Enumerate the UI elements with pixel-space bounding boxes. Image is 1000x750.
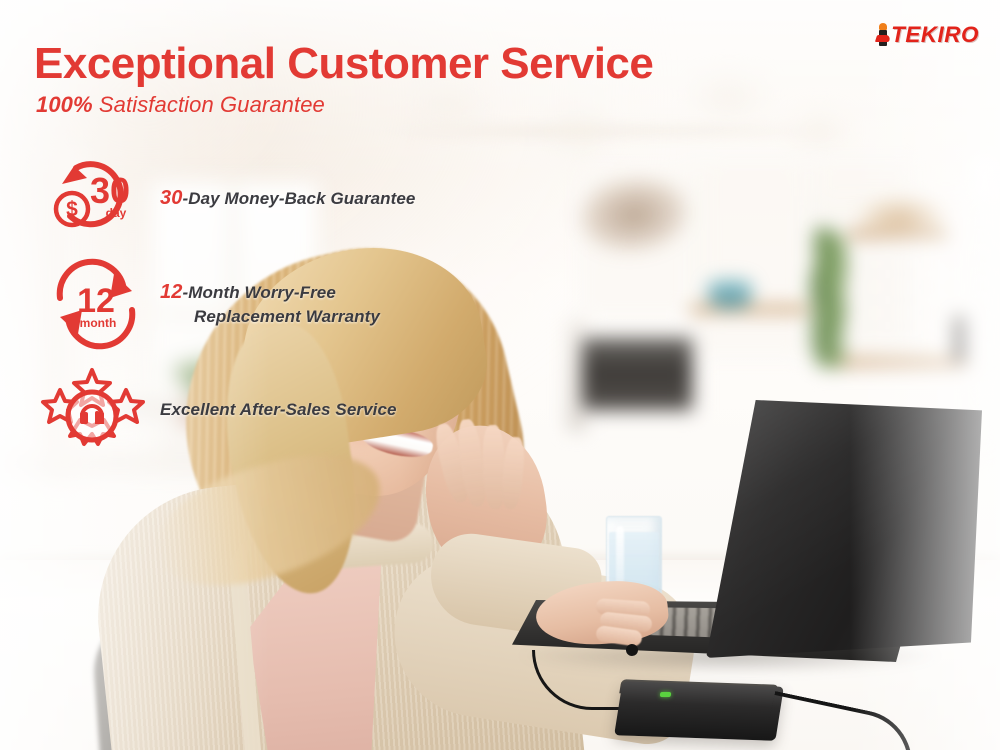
feature-text-line2: Replacement Warranty [160, 306, 380, 329]
feature-text: -Day Money-Back Guarantee [182, 189, 415, 208]
marketing-banner: TEKIRO Exceptional Customer Service 100%… [0, 0, 1000, 750]
content-overlay: TEKIRO Exceptional Customer Service 100%… [0, 0, 1000, 750]
page-subtitle: 100% Satisfaction Guarantee [36, 92, 325, 118]
replacement-warranty-12-month-icon: 12 month [40, 258, 160, 350]
feature-text: -Month Worry-Free [182, 283, 335, 302]
feature-number: 30 [160, 187, 182, 209]
logo-i-icon [875, 23, 891, 47]
feature-label-money-back: 30-Day Money-Back Guarantee [160, 185, 415, 212]
subtitle-rest: Satisfaction Guarantee [93, 92, 325, 117]
icon-unit-month: month [80, 316, 117, 330]
money-back-30-day-icon: $ 30 day [40, 152, 160, 244]
after-sales-service-badge-icon [40, 364, 160, 456]
icon-number-30: 30 [90, 170, 130, 211]
icon-number-12: 12 [77, 282, 115, 320]
brand-logo: TEKIRO [875, 22, 978, 48]
feature-number: 12 [160, 281, 182, 303]
guarantee-feature-list: $ 30 day 30-Day Money-Back Guarantee [40, 150, 510, 470]
logo-wordmark: TEKIRO [891, 22, 979, 48]
feature-item-after-sales: Excellent After-Sales Service [40, 364, 510, 456]
page-title: Exceptional Customer Service [34, 42, 653, 86]
subtitle-percent: 100% [36, 92, 93, 117]
dollar-sign-glyph: $ [66, 198, 78, 221]
icon-unit-day: day [106, 206, 127, 220]
feature-label-warranty: 12-Month Worry-Free Replacement Warranty [160, 279, 380, 329]
feature-label-after-sales: Excellent After-Sales Service [160, 399, 397, 422]
feature-item-money-back: $ 30 day 30-Day Money-Back Guarantee [40, 152, 510, 244]
feature-item-warranty: 12 month 12-Month Worry-Free Replacement… [40, 258, 510, 350]
